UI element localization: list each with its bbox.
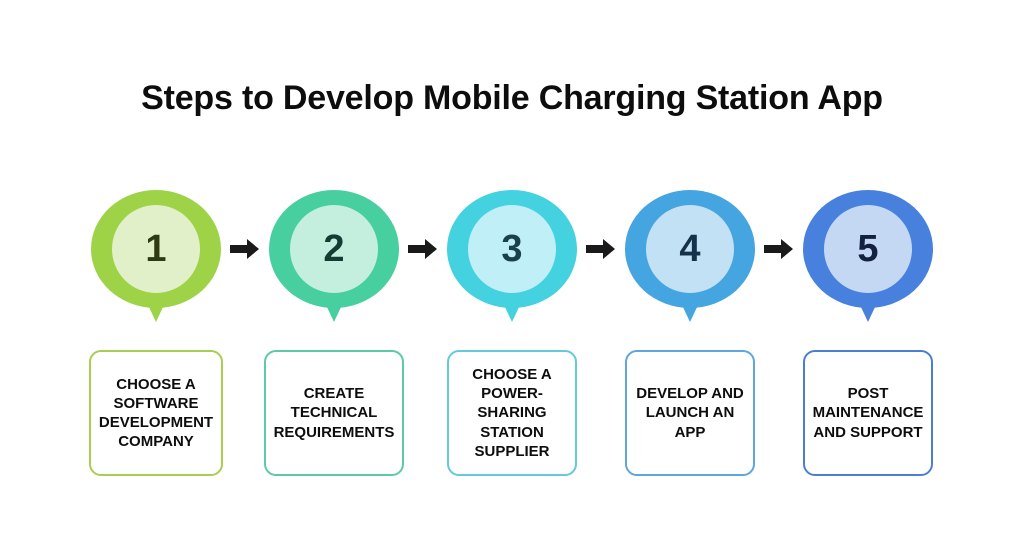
step-label-box-5[interactable]: POST MAINTENANCE AND SUPPORT xyxy=(803,350,934,476)
arrow-right-icon-3 xyxy=(577,190,625,308)
step-number-3: 3 xyxy=(501,230,522,268)
step-label-text-2: CREATE TECHNICAL REQUIREMENTS xyxy=(274,384,395,441)
arrow-right-icon-1 xyxy=(221,190,269,308)
label-gap-4 xyxy=(755,350,803,476)
step-label-text-4: DEVELOP AND LAUNCH AN APP xyxy=(635,384,745,441)
pin-outer-circle-2: 2 xyxy=(269,190,399,308)
step-marker-5[interactable]: 5 xyxy=(803,190,933,340)
label-gap-1 xyxy=(221,350,269,476)
pin-inner-circle-3: 3 xyxy=(468,205,556,293)
step-label-text-1: CHOOSE A SOFTWARE DEVELOPMENT COMPANY xyxy=(99,375,213,451)
step-label-box-4[interactable]: DEVELOP AND LAUNCH AN APP xyxy=(625,350,755,476)
step-marker-4[interactable]: 4 xyxy=(625,190,755,340)
arrow-right-icon-2 xyxy=(399,190,447,308)
step-labels-row: CHOOSE A SOFTWARE DEVELOPMENT COMPANY CR… xyxy=(0,350,1024,476)
step-label-box-2[interactable]: CREATE TECHNICAL REQUIREMENTS xyxy=(264,350,405,476)
step-marker-3[interactable]: 3 xyxy=(447,190,577,340)
arrow-right-icon-4 xyxy=(755,190,803,308)
pin-outer-circle-4: 4 xyxy=(625,190,755,308)
step-number-5: 5 xyxy=(857,230,878,268)
pin-inner-circle-4: 4 xyxy=(646,205,734,293)
pin-outer-circle-3: 3 xyxy=(447,190,577,308)
step-number-2: 2 xyxy=(323,230,344,268)
pin-inner-circle-2: 2 xyxy=(290,205,378,293)
step-label-box-1[interactable]: CHOOSE A SOFTWARE DEVELOPMENT COMPANY xyxy=(89,350,223,476)
step-number-1: 1 xyxy=(145,230,166,268)
step-marker-2[interactable]: 2 xyxy=(269,190,399,340)
step-marker-1[interactable]: 1 xyxy=(91,190,221,340)
label-gap-3 xyxy=(577,350,625,476)
step-label-text-3: CHOOSE A POWER-SHARING STATION SUPPLIER xyxy=(457,365,567,460)
pin-inner-circle-5: 5 xyxy=(824,205,912,293)
pin-outer-circle-1: 1 xyxy=(91,190,221,308)
pin-outer-circle-5: 5 xyxy=(803,190,933,308)
page-title: Steps to Develop Mobile Charging Station… xyxy=(0,79,1024,118)
step-label-box-3[interactable]: CHOOSE A POWER-SHARING STATION SUPPLIER xyxy=(447,350,577,476)
infographic-canvas: Steps to Develop Mobile Charging Station… xyxy=(0,0,1024,543)
step-markers-row: 1 2 3 xyxy=(0,190,1024,340)
pin-inner-circle-1: 1 xyxy=(112,205,200,293)
step-label-text-5: POST MAINTENANCE AND SUPPORT xyxy=(813,384,924,441)
step-number-4: 4 xyxy=(679,230,700,268)
label-gap-2 xyxy=(399,350,447,476)
